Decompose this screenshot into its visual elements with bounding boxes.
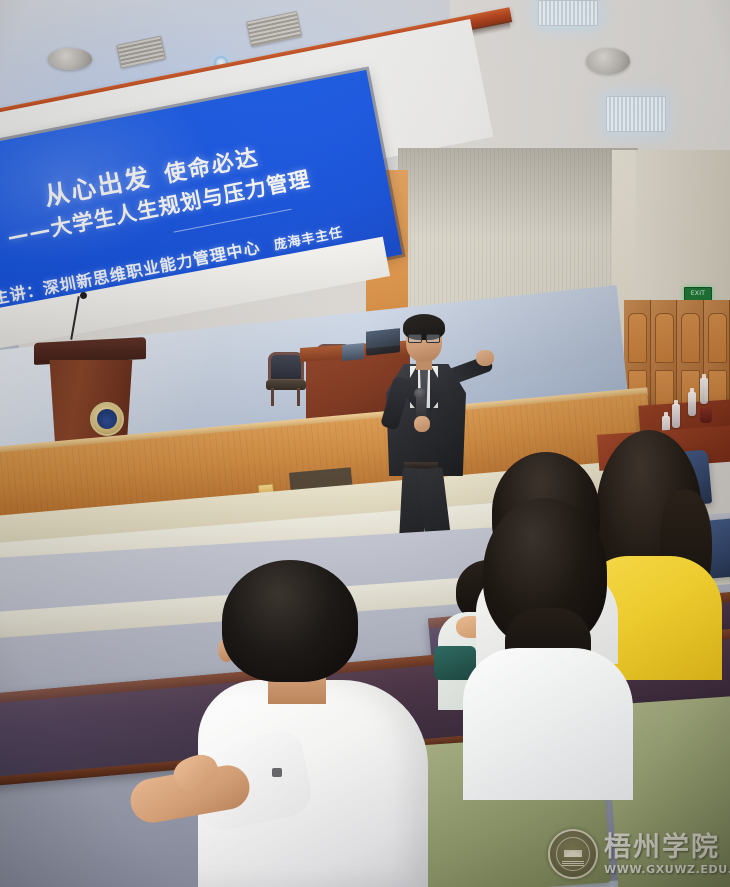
chair-leg <box>297 388 300 406</box>
seal-steps-icon <box>562 861 584 866</box>
glasses-icon <box>408 334 440 341</box>
university-seal-icon <box>548 829 598 879</box>
microphone-icon <box>80 292 87 299</box>
watermark: 梧州学院 WWW.GXUWZ.EDU.CN <box>548 825 724 883</box>
photo-scene: EXIT 从心出发使命必达 ——大学生人生规划与压力管理 主讲：深圳新思维职业能… <box>0 0 730 887</box>
microphone-head-icon <box>414 388 427 399</box>
panel-light-icon <box>606 96 666 132</box>
foreground-student <box>176 560 436 887</box>
shirt-logo-icon <box>272 768 282 777</box>
audience-person <box>455 498 635 798</box>
seal-dome-icon <box>564 841 582 857</box>
student-hair <box>222 560 358 682</box>
monitor <box>342 343 364 361</box>
panel-light-icon <box>538 0 598 26</box>
emblem-inner <box>97 409 117 429</box>
watermark-text: 梧州学院 WWW.GXUWZ.EDU.CN <box>604 834 730 875</box>
exit-sign: EXIT <box>684 287 712 301</box>
ceiling-speaker-icon <box>586 48 630 74</box>
water-bottle <box>700 378 708 404</box>
chair-leg <box>271 388 274 406</box>
chair-back <box>268 352 304 382</box>
university-emblem-icon <box>90 402 124 436</box>
ceiling-speaker-icon <box>48 48 92 70</box>
watermark-url: WWW.GXUWZ.EDU.CN <box>604 864 730 875</box>
presenter-pointing-hand <box>476 350 494 366</box>
cup <box>700 408 712 423</box>
presenter-hand <box>414 416 430 432</box>
person-top <box>463 648 633 800</box>
exit-sign-label: EXIT <box>691 291 706 297</box>
water-bottle <box>672 404 680 428</box>
water-bottle <box>688 392 696 416</box>
watermark-institution: 梧州学院 <box>604 834 730 861</box>
wall-shadow <box>398 148 638 238</box>
